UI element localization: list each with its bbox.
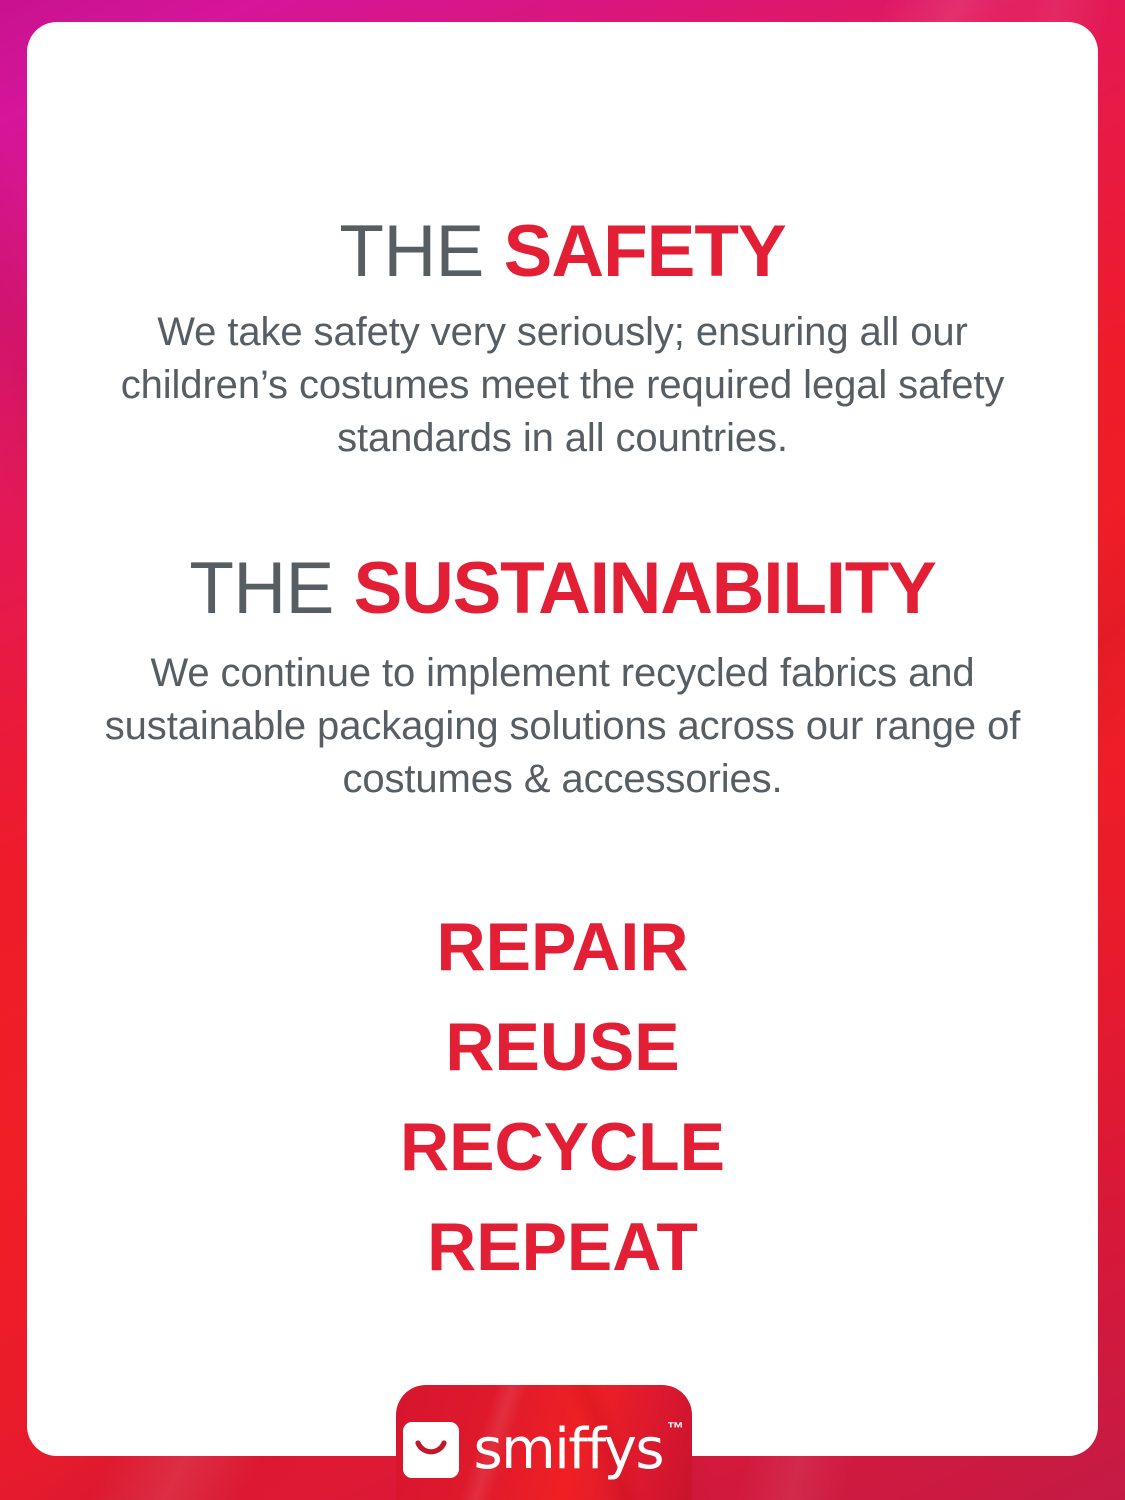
heading-sustainability-prefix: THE bbox=[189, 548, 353, 629]
heading-safety: THE SAFETY bbox=[97, 215, 1028, 288]
smiffys-wordmark: smiffys bbox=[473, 1422, 663, 1478]
trademark-symbol: ™ bbox=[667, 1419, 685, 1439]
slogan-word-recycle: RECYCLE bbox=[97, 1098, 1028, 1198]
heading-sustainability: THE SUSTAINABILITY bbox=[97, 552, 1028, 625]
paragraph-sustainability: We continue to implement recycled fabric… bbox=[97, 647, 1028, 807]
paragraph-safety: We take safety very seriously; ensuring … bbox=[97, 306, 1028, 466]
card-content: THE SAFETY We take safety very seriously… bbox=[27, 22, 1098, 1298]
slogan-word-repeat: REPEAT bbox=[97, 1198, 1028, 1298]
heading-sustainability-accent: SUSTAINABILITY bbox=[354, 548, 936, 629]
slogan-word-reuse: REUSE bbox=[97, 998, 1028, 1098]
slogan-list: REPAIR REUSE RECYCLE REPEAT bbox=[97, 898, 1028, 1298]
content-card: THE SAFETY We take safety very seriously… bbox=[27, 22, 1098, 1456]
slogan-word-repair: REPAIR bbox=[97, 898, 1028, 998]
smile-icon bbox=[403, 1422, 459, 1478]
heading-safety-prefix: THE bbox=[339, 211, 503, 292]
smiffys-logo-tab[interactable]: smiffys ™ bbox=[396, 1385, 692, 1500]
heading-safety-accent: SAFETY bbox=[504, 211, 786, 292]
